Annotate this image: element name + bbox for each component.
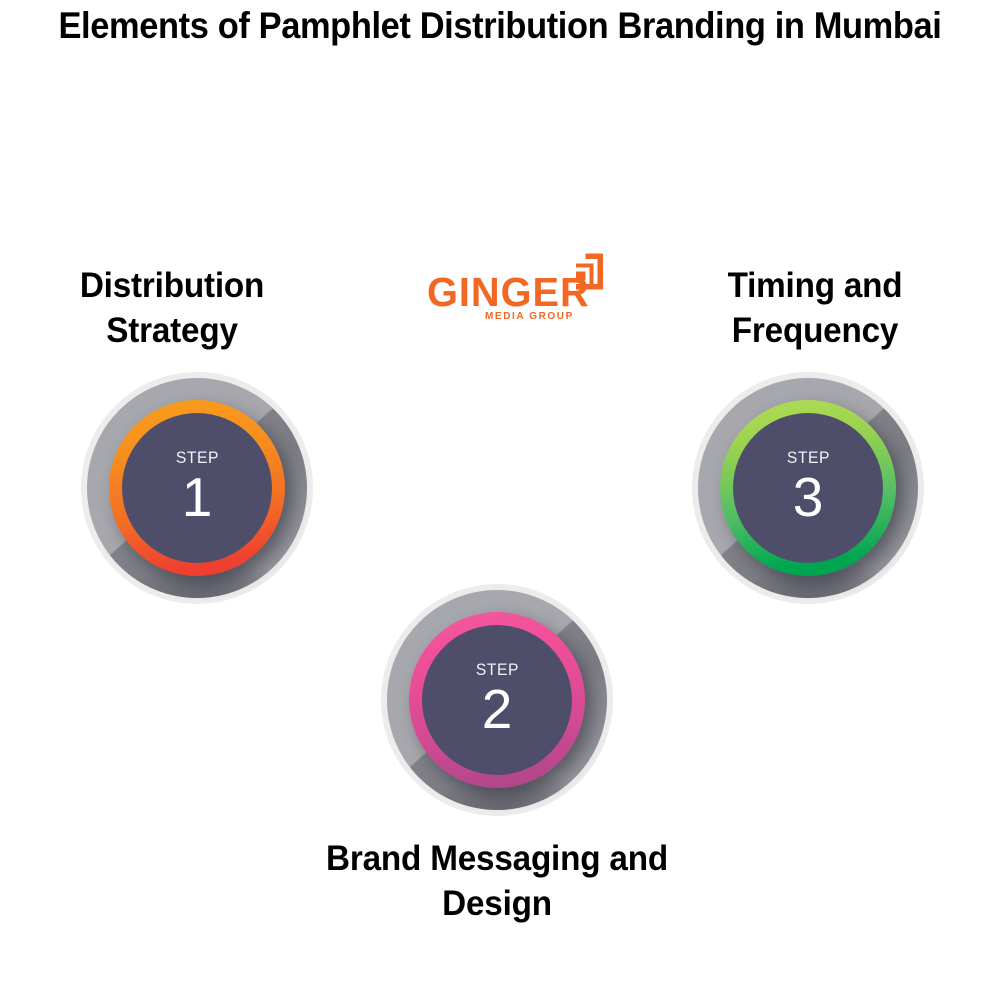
step-caption-2: Brand Messaging and Design	[298, 836, 697, 926]
step-label: STEP	[475, 660, 518, 679]
step-number: 2	[482, 681, 513, 737]
step-badge: STEP 2	[422, 625, 572, 775]
step-badge: STEP 3	[733, 413, 883, 563]
step-caption-3: Timing and Frequency	[663, 263, 967, 353]
step-node-1[interactable]: STEP 1	[81, 372, 313, 604]
step-number: 1	[182, 469, 213, 525]
logo-subtitle: MEDIA GROUP	[485, 311, 574, 322]
step-label: STEP	[786, 448, 829, 467]
step-number: 3	[793, 469, 824, 525]
ginger-media-group-logo: GINGER MEDIA GROUP	[427, 252, 602, 332]
step-node-2[interactable]: STEP 2	[381, 584, 613, 816]
step-node-3[interactable]: STEP 3	[692, 372, 924, 604]
page-title: Elements of Pamphlet Distribution Brandi…	[35, 2, 965, 49]
step-caption-1: Distribution Strategy	[20, 263, 324, 353]
step-label: STEP	[175, 448, 218, 467]
step-badge: STEP 1	[122, 413, 272, 563]
stepped-bars-icon	[565, 252, 605, 292]
